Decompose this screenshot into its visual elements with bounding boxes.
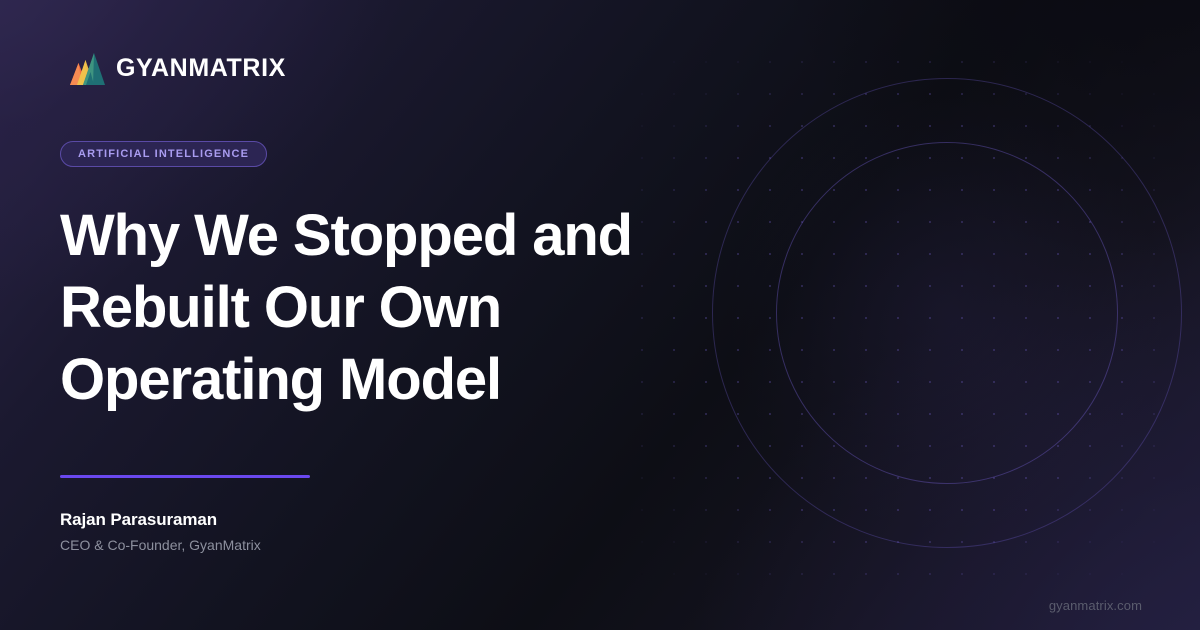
author-block: Rajan Parasuraman CEO & Co-Founder, Gyan… bbox=[60, 508, 261, 556]
brand-wordmark: GYANMATRIX bbox=[116, 56, 286, 81]
decorative-inner-ring bbox=[776, 142, 1118, 484]
brand-logo[interactable]: GYANMATRIX bbox=[60, 51, 286, 85]
headline-line-3: Operating Model bbox=[60, 344, 700, 416]
content-column: GYANMATRIX ARTIFICIAL INTELLIGENCE Why W… bbox=[60, 0, 700, 630]
category-badge[interactable]: ARTIFICIAL INTELLIGENCE bbox=[60, 141, 267, 167]
headline-line-1: Why We Stopped and bbox=[60, 200, 700, 272]
footer-website-url[interactable]: gyanmatrix.com bbox=[1049, 598, 1142, 613]
accent-divider bbox=[60, 475, 310, 478]
page-title: Why We Stopped and Rebuilt Our Own Opera… bbox=[60, 200, 700, 416]
decorative-ring-glow bbox=[732, 98, 1162, 528]
author-name: Rajan Parasuraman bbox=[60, 508, 261, 532]
decorative-dot-grid bbox=[620, 40, 1180, 600]
social-share-card: GYANMATRIX ARTIFICIAL INTELLIGENCE Why W… bbox=[0, 0, 1200, 630]
decorative-outer-ring bbox=[712, 78, 1182, 548]
author-role: CEO & Co-Founder, GyanMatrix bbox=[60, 534, 261, 556]
mountain-peaks-icon bbox=[60, 51, 107, 85]
headline-line-2: Rebuilt Our Own bbox=[60, 272, 700, 344]
